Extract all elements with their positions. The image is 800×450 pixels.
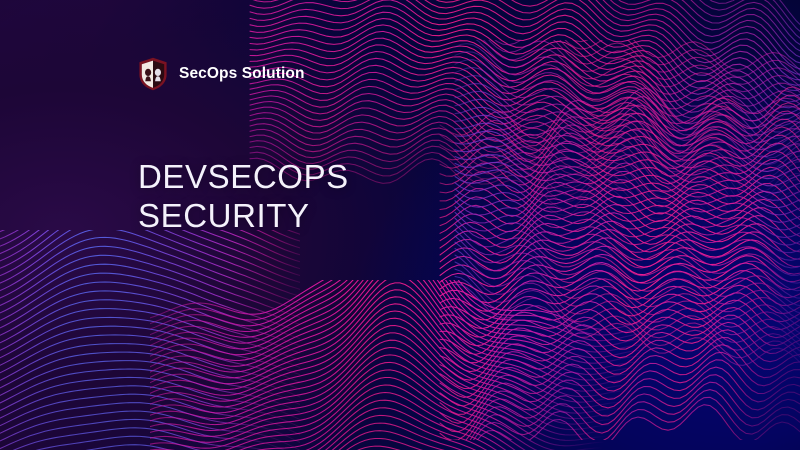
page-title: DEVSECOPS SECURITY xyxy=(138,158,349,236)
brand-name: SecOps Solution xyxy=(179,66,305,82)
background-vignette xyxy=(0,0,800,450)
presentation-slide: SecOps Solution DEVSECOPS SECURITY xyxy=(0,0,800,450)
brand-lockup: SecOps Solution xyxy=(138,57,305,91)
shield-icon xyxy=(138,57,168,91)
